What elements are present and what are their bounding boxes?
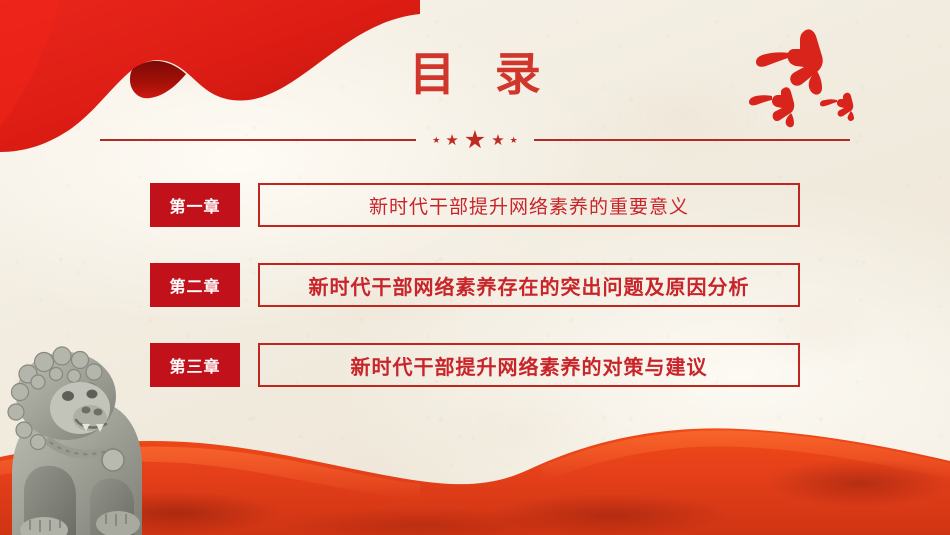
divider-stars: ★ ★ ★ ★ ★ bbox=[416, 128, 533, 153]
chapter-3-title-box[interactable]: 新时代干部提升网络素养的对策与建议 bbox=[258, 343, 800, 387]
chapter-1-badge: 第一章 bbox=[150, 183, 240, 227]
divider-line-right bbox=[534, 139, 850, 141]
star-icon-5: ★ bbox=[510, 136, 518, 145]
divider-line-left bbox=[100, 139, 416, 141]
table-of-contents-list: 第一章 新时代干部提升网络素养的重要意义 第二章 新时代干部网络素养存在的突出问… bbox=[150, 183, 800, 387]
star-icon-2: ★ bbox=[445, 133, 458, 148]
toc-item-chapter-3[interactable]: 第三章 新时代干部提升网络素养的对策与建议 bbox=[150, 343, 800, 387]
star-icon-4: ★ bbox=[491, 133, 504, 148]
chapter-2-badge: 第二章 bbox=[150, 263, 240, 307]
chapter-1-title-box[interactable]: 新时代干部提升网络素养的重要意义 bbox=[258, 183, 800, 227]
chapter-2-title-box[interactable]: 新时代干部网络素养存在的突出问题及原因分析 bbox=[258, 263, 800, 307]
presentation-slide: 目 录 ★ ★ ★ ★ ★ 第一章 新时代干部提升网络素养的重要意义 第二章 新… bbox=[0, 0, 950, 535]
chapter-3-badge: 第三章 bbox=[150, 343, 240, 387]
star-divider: ★ ★ ★ ★ ★ bbox=[100, 128, 850, 152]
star-icon-1: ★ bbox=[432, 136, 440, 145]
page-title: 目 录 bbox=[0, 52, 950, 98]
star-icon-3: ★ bbox=[464, 128, 486, 153]
toc-item-chapter-1[interactable]: 第一章 新时代干部提升网络素养的重要意义 bbox=[150, 183, 800, 227]
toc-item-chapter-2[interactable]: 第二章 新时代干部网络素养存在的突出问题及原因分析 bbox=[150, 263, 800, 307]
